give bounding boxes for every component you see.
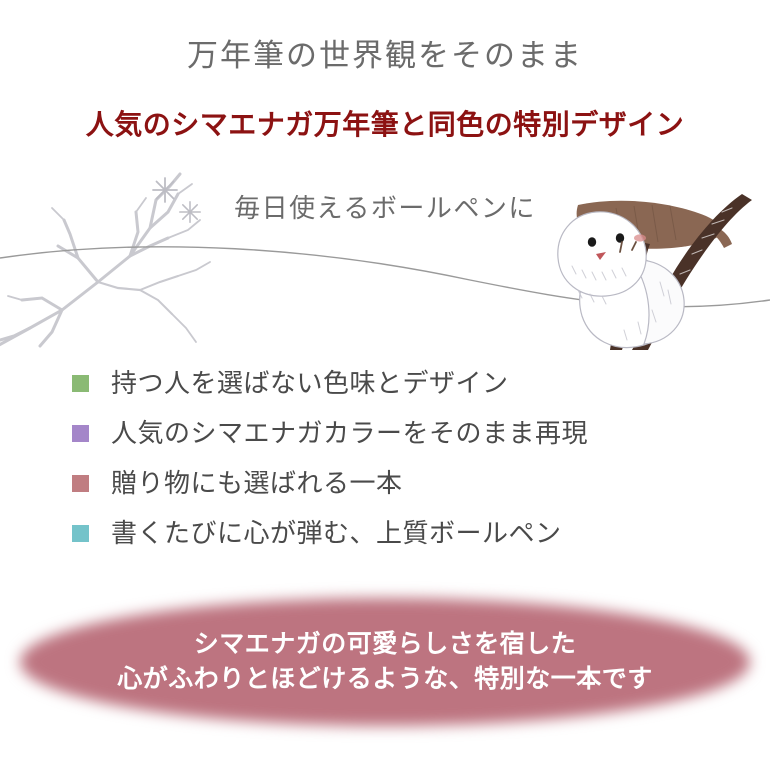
feature-label: 人気のシマエナガカラーをそのまま再現 bbox=[111, 420, 588, 446]
shimaenaga-bird-icon bbox=[558, 212, 684, 348]
banner-line-1: シマエナガの可愛らしさを宿した bbox=[194, 627, 577, 663]
list-item: 贈り物にも選ばれる一本 bbox=[72, 458, 712, 508]
wire-line bbox=[0, 247, 770, 307]
list-item: 人気のシマエナガカラーをそのまま再現 bbox=[72, 408, 712, 458]
list-item: 持つ人を選ばない色味とデザイン bbox=[72, 358, 712, 408]
bird-eye-right bbox=[616, 233, 624, 243]
feature-label: 持つ人を選ばない色味とデザイン bbox=[111, 370, 509, 396]
banner-line-2: 心がふわりとほどけるような、特別な一本です bbox=[117, 662, 653, 698]
winter-scene-illustration bbox=[0, 150, 770, 350]
scene-svg bbox=[0, 150, 770, 350]
bullet-square-icon bbox=[72, 375, 89, 392]
bullet-square-icon bbox=[72, 525, 89, 542]
page-title-tertiary: 毎日使えるボールペンに bbox=[0, 188, 770, 225]
closing-banner: シマエナガの可愛らしさを宿した 心がふわりとほどけるような、特別な一本です bbox=[20, 598, 750, 726]
feature-list: 持つ人を選ばない色味とデザイン 人気のシマエナガカラーをそのまま再現 贈り物にも… bbox=[72, 358, 712, 558]
feature-label: 書くたびに心が弾む、上質ボールペン bbox=[111, 520, 562, 546]
bullet-square-icon bbox=[72, 475, 89, 492]
page-title-highlight: 人気のシマエナガ万年筆と同色の特別デザイン bbox=[0, 103, 770, 143]
list-item: 書くたびに心が弾む、上質ボールペン bbox=[72, 508, 712, 558]
bird-cheek bbox=[634, 234, 646, 241]
bullet-square-icon bbox=[72, 425, 89, 442]
banner-text-block: シマエナガの可愛らしさを宿した 心がふわりとほどけるような、特別な一本です bbox=[20, 598, 750, 726]
bird-eye-left bbox=[588, 237, 596, 247]
bird-beak bbox=[596, 252, 606, 260]
promo-page: 万年筆の世界観をそのまま 人気のシマエナガ万年筆と同色の特別デザイン 毎日使える… bbox=[0, 0, 770, 769]
feature-label: 贈り物にも選ばれる一本 bbox=[111, 470, 403, 496]
page-title-primary: 万年筆の世界観をそのまま bbox=[0, 30, 770, 75]
